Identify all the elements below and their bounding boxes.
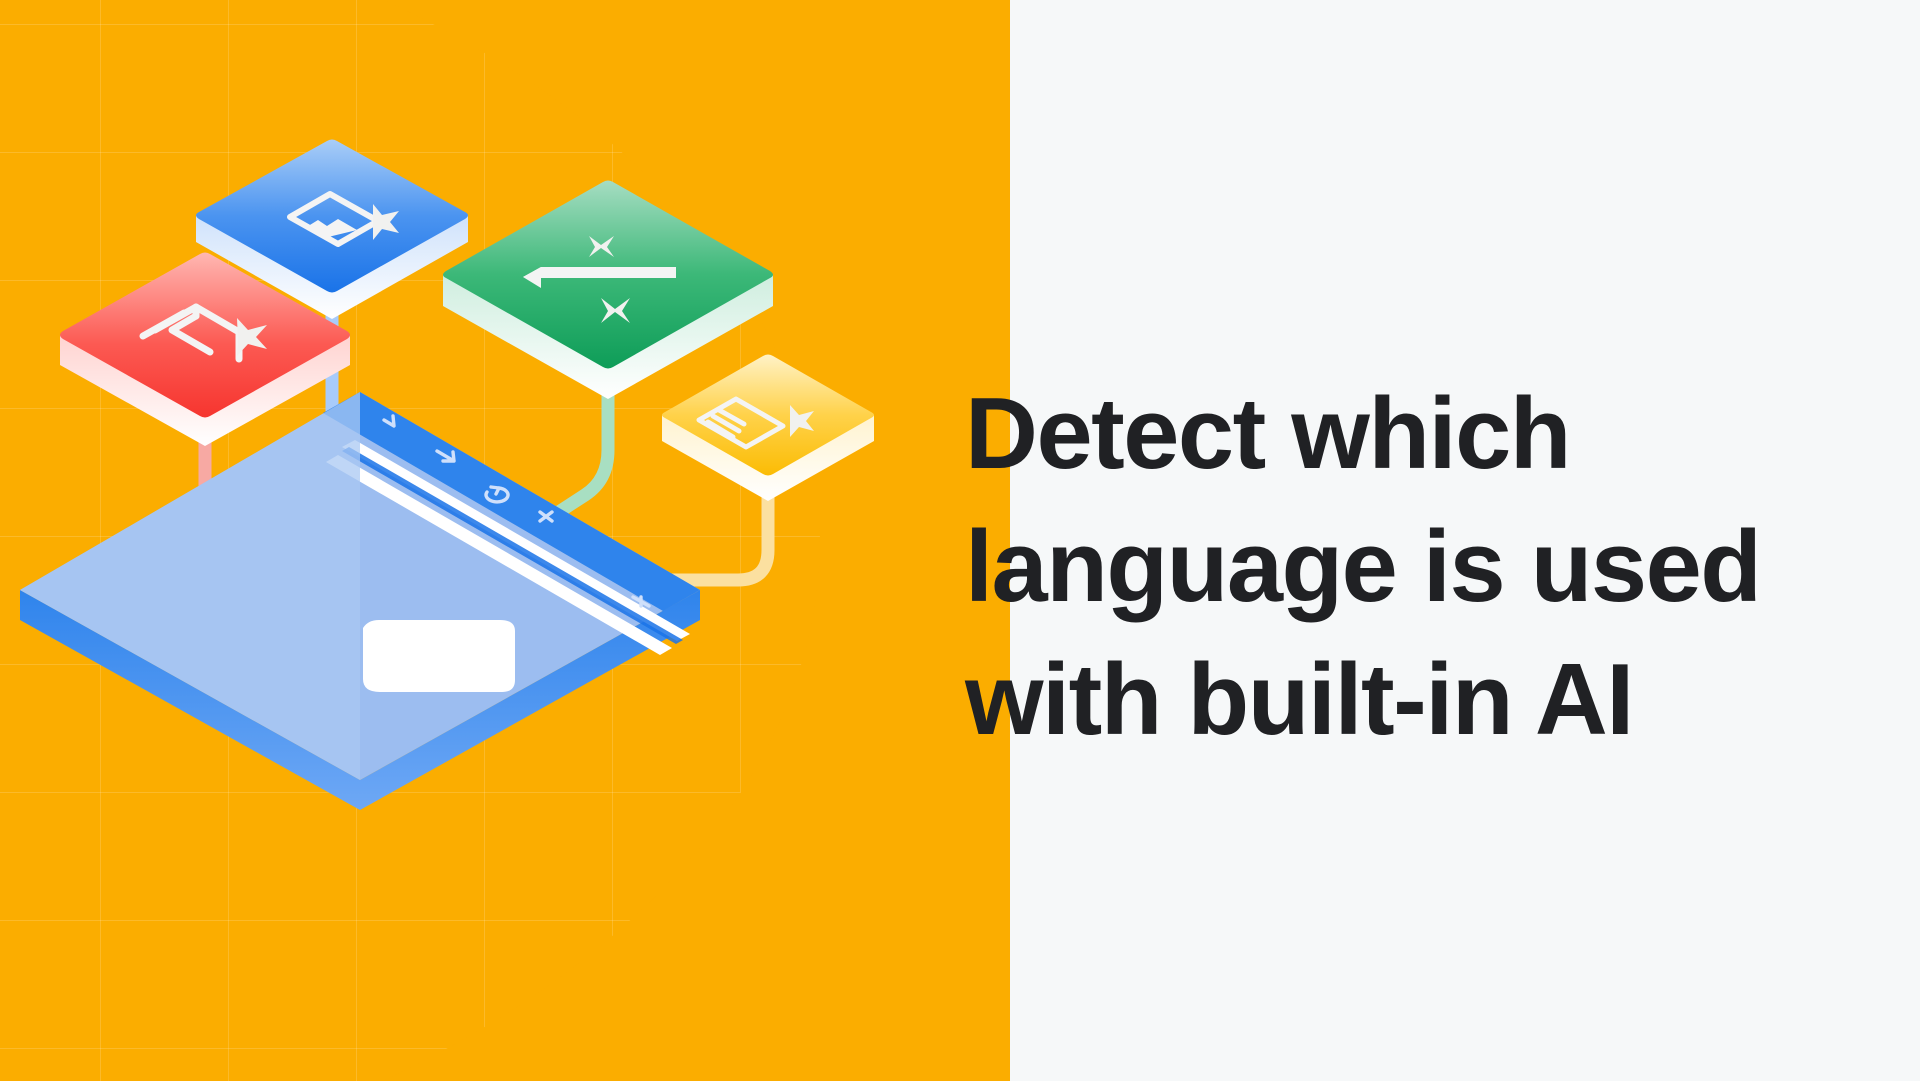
- center-button[interactable]: [363, 620, 515, 692]
- card-summarizer[interactable]: [662, 355, 874, 502]
- hero-screenshot: Detect which language is used with built…: [0, 0, 1920, 1081]
- illustration: [0, 120, 900, 900]
- isometric-board[interactable]: [20, 392, 700, 810]
- center-button-shape: [363, 620, 515, 692]
- card-writer[interactable]: [443, 181, 773, 400]
- board-highlight: [20, 392, 360, 780]
- page-title: Detect which language is used with built…: [965, 368, 1795, 767]
- writer-pencil-glyph: [523, 267, 676, 278]
